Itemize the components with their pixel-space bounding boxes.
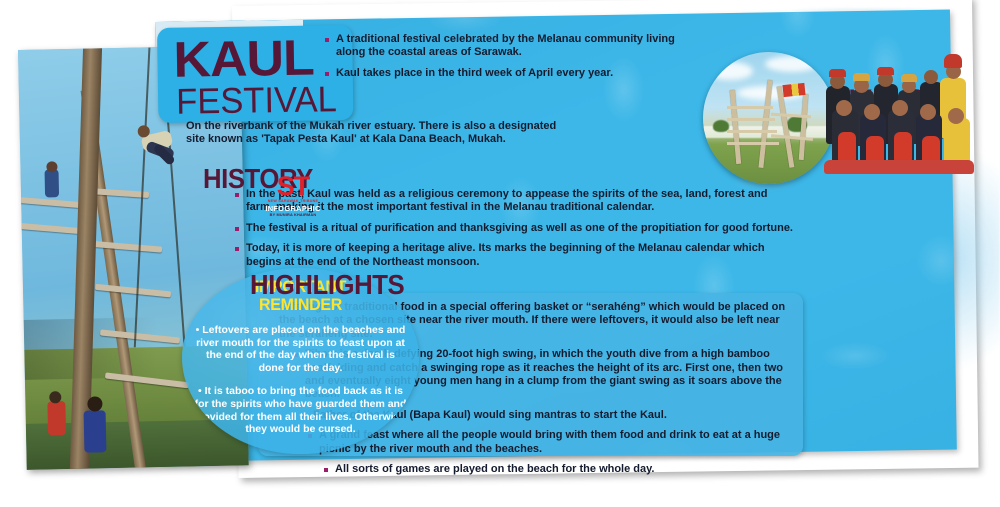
reminder-paragraph: • It is taboo to bring the food back as …: [192, 385, 409, 435]
highlights-bullet-text: All sorts of games are played on the bea…: [335, 463, 793, 476]
infographic-canvas: KAUL FESTIVAL A traditional festival cel…: [0, 0, 1000, 507]
logo-kicker: INFOGRAPHIC: [264, 204, 322, 213]
st-logo: ST NEW SARAWAK TRIBUNE INFOGRAPHIC BY MU…: [264, 174, 322, 226]
logo-credit: BY MUNIRA KHAIRMAN: [264, 213, 322, 218]
swinging-person: [132, 125, 185, 172]
intro-bullet-list: A traditional festival celebrated by the…: [325, 33, 685, 87]
title-kaul: KAUL: [173, 33, 314, 85]
list-item: Kaul takes place in the third week of Ap…: [325, 67, 685, 80]
intro-bullet-text: Kaul takes place in the third week of Ap…: [336, 67, 685, 80]
bullet-marker-icon: [235, 247, 239, 251]
festival-site-body: On the riverbank of the Mukah river estu…: [186, 120, 561, 147]
reminder-paragraph: • Leftovers are placed on the beaches an…: [192, 324, 409, 374]
title-festival: FESTIVAL: [176, 81, 337, 120]
bullet-marker-icon: [235, 227, 239, 231]
history-bullet-text: In the past, Kaul was held as a religiou…: [246, 188, 795, 215]
highlights-heading: HIGHLIGHTS: [250, 271, 404, 299]
list-item: Today, it is more of keeping a heritage …: [235, 242, 795, 269]
photo-festival-site: [703, 52, 835, 184]
title-block: KAUL FESTIVAL: [157, 25, 353, 123]
bullet-marker-icon: [325, 38, 329, 42]
photo-melanau-performers: [818, 48, 983, 170]
bullet-marker-icon: [324, 468, 328, 472]
list-item: A traditional festival celebrated by the…: [325, 33, 685, 60]
history-bullet-text: The festival is a ritual of purification…: [246, 222, 795, 235]
logo-mark: ST: [264, 174, 322, 199]
history-bullet-text: Today, it is more of keeping a heritage …: [246, 242, 795, 269]
bullet-marker-icon: [235, 193, 239, 197]
flag-icon: [782, 83, 805, 97]
bullet-marker-icon: [325, 72, 329, 76]
intro-bullet-text: A traditional festival celebrated by the…: [336, 33, 685, 60]
list-item: All sorts of games are played on the bea…: [268, 463, 793, 476]
